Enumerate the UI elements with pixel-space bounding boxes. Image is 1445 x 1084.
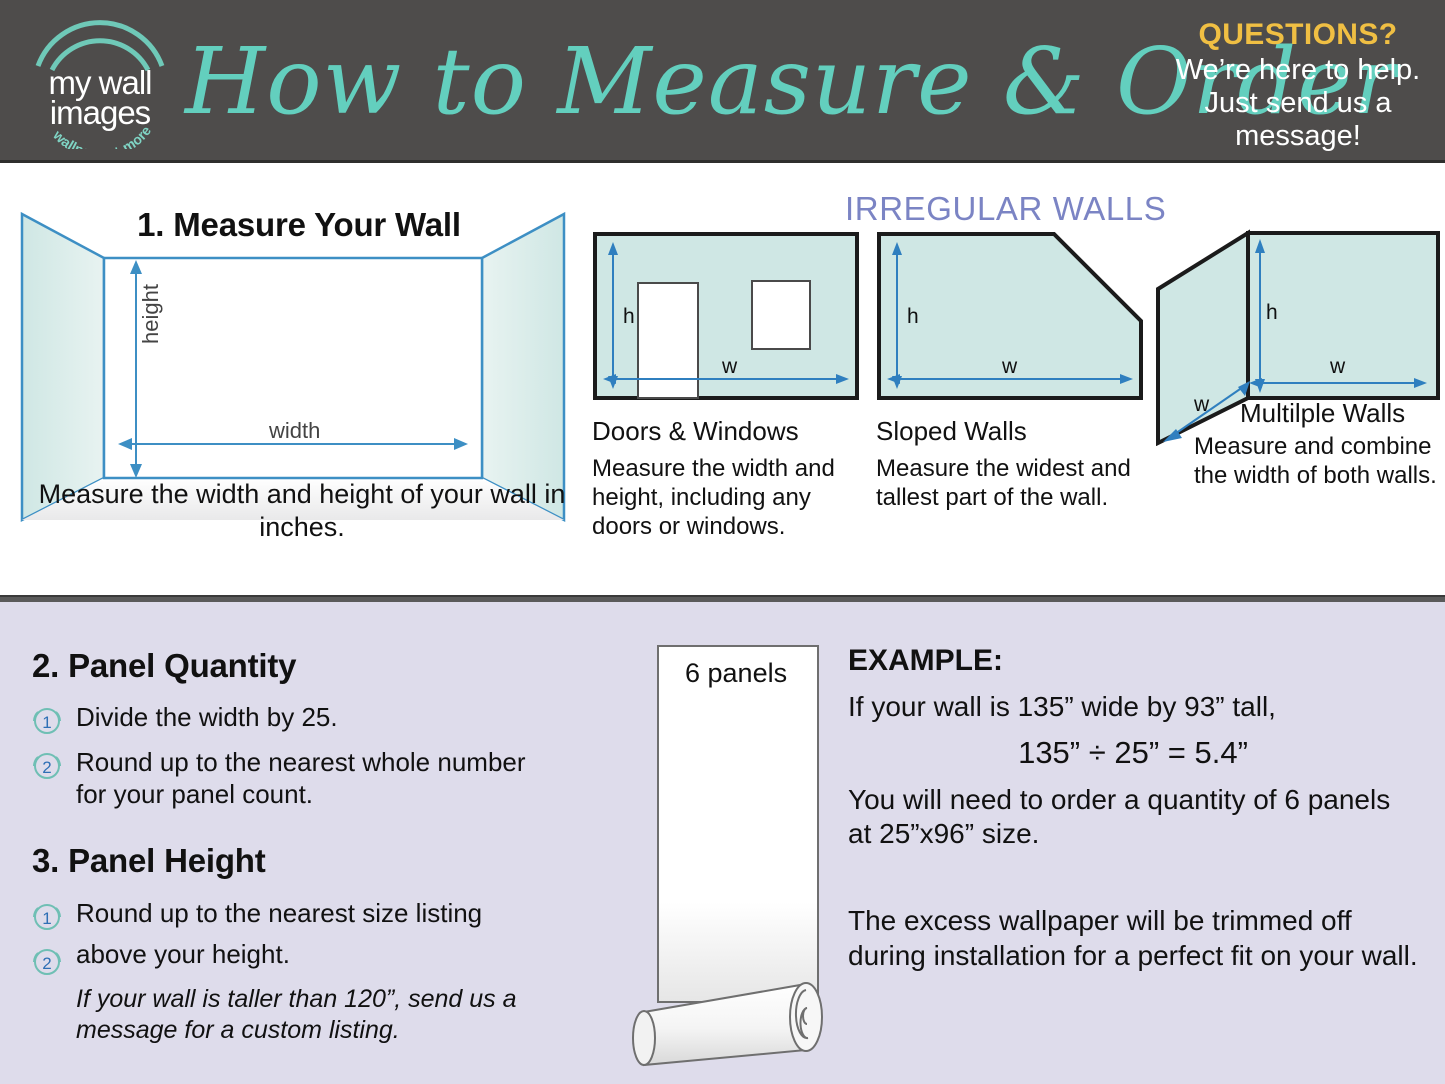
irregular-name-0: Doors & Windows — [592, 416, 864, 447]
irregular-item-multiple-walls: h w w Multilple Walls Measure and combin… — [1150, 221, 1445, 451]
section-two-step-1: Divide the width by 25. — [76, 702, 546, 734]
roll-panel-count-label: 6 panels — [685, 658, 787, 689]
irregular-item-doors-windows: h w Doors & Windows Measure the width an… — [592, 231, 864, 541]
svg-text:1: 1 — [42, 909, 51, 928]
section-three-title: 3. Panel Height — [32, 842, 266, 880]
step-badge-4-icon: 2 — [30, 945, 64, 979]
section-two-step-2: Round up to the nearest whole number for… — [76, 747, 546, 810]
example-equation: 135” ÷ 25” = 5.4” — [848, 735, 1418, 771]
svg-text:2: 2 — [42, 758, 51, 777]
svg-text:w: w — [1001, 355, 1018, 378]
step-badge-1-icon: 1 — [30, 704, 64, 738]
wallpaper-roll-illustration: 6 panels — [630, 640, 845, 1075]
svg-text:w: w — [1193, 393, 1210, 416]
brand-logo: my wall images wallpaper + more — [20, 14, 180, 149]
example-title: EXAMPLE: — [848, 644, 1418, 678]
irregular-item-sloped-walls: h w Sloped Walls Measure the widest and … — [876, 231, 1144, 513]
infographic-page: my wall images wallpaper + more my wall … — [0, 0, 1445, 1084]
section-three-step-2: above your height. — [76, 939, 576, 971]
irregular-desc-2: Measure and combine the width of both wa… — [1194, 433, 1444, 491]
svg-text:h: h — [1266, 301, 1278, 324]
doors-windows-diagram: h w — [592, 231, 860, 401]
step-badge-3-icon: 1 — [30, 900, 64, 934]
header-bar: my wall images wallpaper + more my wall … — [0, 0, 1445, 160]
irregular-name-1: Sloped Walls — [876, 416, 1144, 447]
height-label: height — [138, 284, 164, 344]
example-line-3: The excess wallpaper will be trimmed off… — [848, 904, 1418, 973]
irregular-name-2: Multilple Walls — [1240, 398, 1405, 429]
questions-body: We’re here to help. Just send us a messa… — [1169, 54, 1427, 153]
example-line-2: You will need to order a quantity of 6 p… — [848, 783, 1418, 852]
svg-text:images: images — [50, 94, 151, 131]
step-badge-2-icon: 2 — [30, 749, 64, 783]
width-label: width — [269, 418, 320, 444]
svg-text:1: 1 — [42, 713, 51, 732]
section-one-caption: Measure the width and height of your wal… — [24, 478, 580, 544]
logo-arc-icon — [38, 23, 162, 70]
example-line-1: If your wall is 135” wide by 93” tall, — [848, 690, 1418, 725]
irregular-walls-heading: IRREGULAR WALLS — [845, 190, 1166, 228]
section-one: height width 1. Measure Your Wall Measur… — [14, 188, 584, 568]
svg-text:w: w — [1329, 355, 1346, 378]
section-three-step-1: Round up to the nearest size listing — [76, 898, 576, 930]
section-two-title: 2. Panel Quantity — [32, 647, 296, 685]
example-block: EXAMPLE: If your wall is 135” wide by 93… — [848, 644, 1418, 974]
page-title: How to Measure & Order — [185, 6, 1185, 156]
irregular-desc-1: Measure the widest and tallest part of t… — [876, 455, 1144, 513]
measure-section: height width 1. Measure Your Wall Measur… — [0, 163, 1445, 595]
order-section: 2. Panel Quantity 1 Divide the width by … — [0, 602, 1445, 1084]
irregular-desc-0: Measure the width and height, including … — [592, 455, 864, 541]
questions-block: QUESTIONS? We’re here to help. Just send… — [1169, 18, 1427, 153]
svg-text:h: h — [623, 305, 635, 328]
svg-text:h: h — [907, 305, 919, 328]
section-three-note: If your wall is taller than 120”, send u… — [76, 984, 546, 1047]
svg-text:w: w — [721, 355, 738, 378]
sloped-wall-diagram: h w — [876, 231, 1144, 401]
section-one-title: 1. Measure Your Wall — [14, 206, 584, 244]
svg-text:2: 2 — [42, 954, 51, 973]
questions-title: QUESTIONS? — [1169, 18, 1427, 52]
